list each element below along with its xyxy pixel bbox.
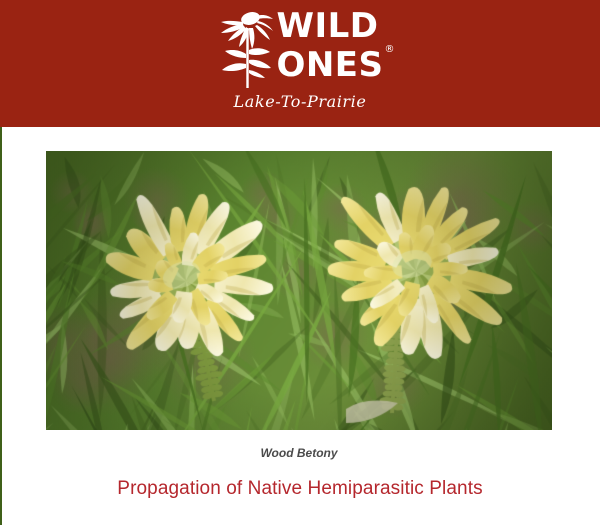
logo-row: WILD ONES ® [216, 6, 383, 88]
newsletter-page: WILD ONES ® Lake-To-Prairie Wood Betony … [0, 0, 600, 525]
wordmark: WILD ONES ® [276, 6, 383, 85]
brand-lockup: WILD ONES ® Lake-To-Prairie [0, 0, 600, 127]
left-green-rule [0, 127, 2, 525]
photo-caption: Wood Betony [46, 446, 552, 460]
article-title: Propagation of Native Hemiparasitic Plan… [0, 478, 600, 500]
wordmark-ones-wrap: ONES ® [276, 46, 383, 85]
wordmark-ones: ONES [276, 45, 383, 85]
coneflower-icon [216, 6, 274, 88]
wood-betony-photo [46, 151, 552, 430]
photo-canvas [46, 151, 552, 430]
wordmark-wild: WILD [276, 7, 378, 46]
chapter-name: Lake-To-Prairie [234, 92, 367, 111]
header-banner: WILD ONES ® Lake-To-Prairie [0, 0, 600, 127]
photo-figure: Wood Betony [46, 151, 552, 460]
registered-trademark-symbol: ® [385, 45, 395, 55]
